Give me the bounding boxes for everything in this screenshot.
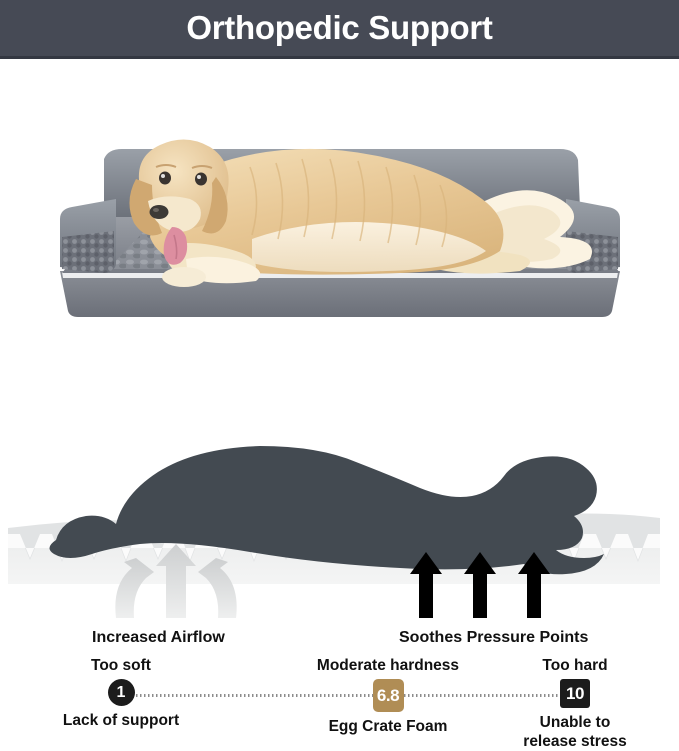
caption-increased-airflow: Increased Airflow [92,629,225,647]
scale-marker-moderate: Moderate hardness 6.8 Egg Crate Foam [308,657,468,736]
dog-bed-illustration [0,59,679,321]
scale-marker-top-label: Too hard [542,657,607,675]
scale-marker-bottom-label: Lack of support [63,711,179,730]
scale-badge-6-8: 6.8 [373,679,404,712]
scale-marker-top-label: Moderate hardness [317,657,459,675]
scale-marker-too-soft: Too soft 1 Lack of support [41,657,201,730]
scale-badge-10: 10 [560,679,590,708]
scale-badge-1: 1 [108,679,135,706]
scale-marker-top-label: Too soft [91,657,151,675]
scale-marker-bottom-label: Egg Crate Foam [329,717,448,736]
pressure-arrows [410,552,550,618]
caption-soothes-pressure-points: Soothes Pressure Points [399,629,588,647]
product-photo [0,59,679,321]
scale-marker-bottom-label: Unable to release stress [523,713,626,751]
foam-diagram [0,432,679,618]
header-bar: Orthopedic Support [0,0,679,59]
page-title: Orthopedic Support [186,9,492,47]
hardness-scale: Too soft 1 Lack of support Moderate hard… [0,325,679,430]
foam-cross-section [0,432,679,618]
scale-marker-too-hard: Too hard 10 Unable to release stress [495,657,655,751]
